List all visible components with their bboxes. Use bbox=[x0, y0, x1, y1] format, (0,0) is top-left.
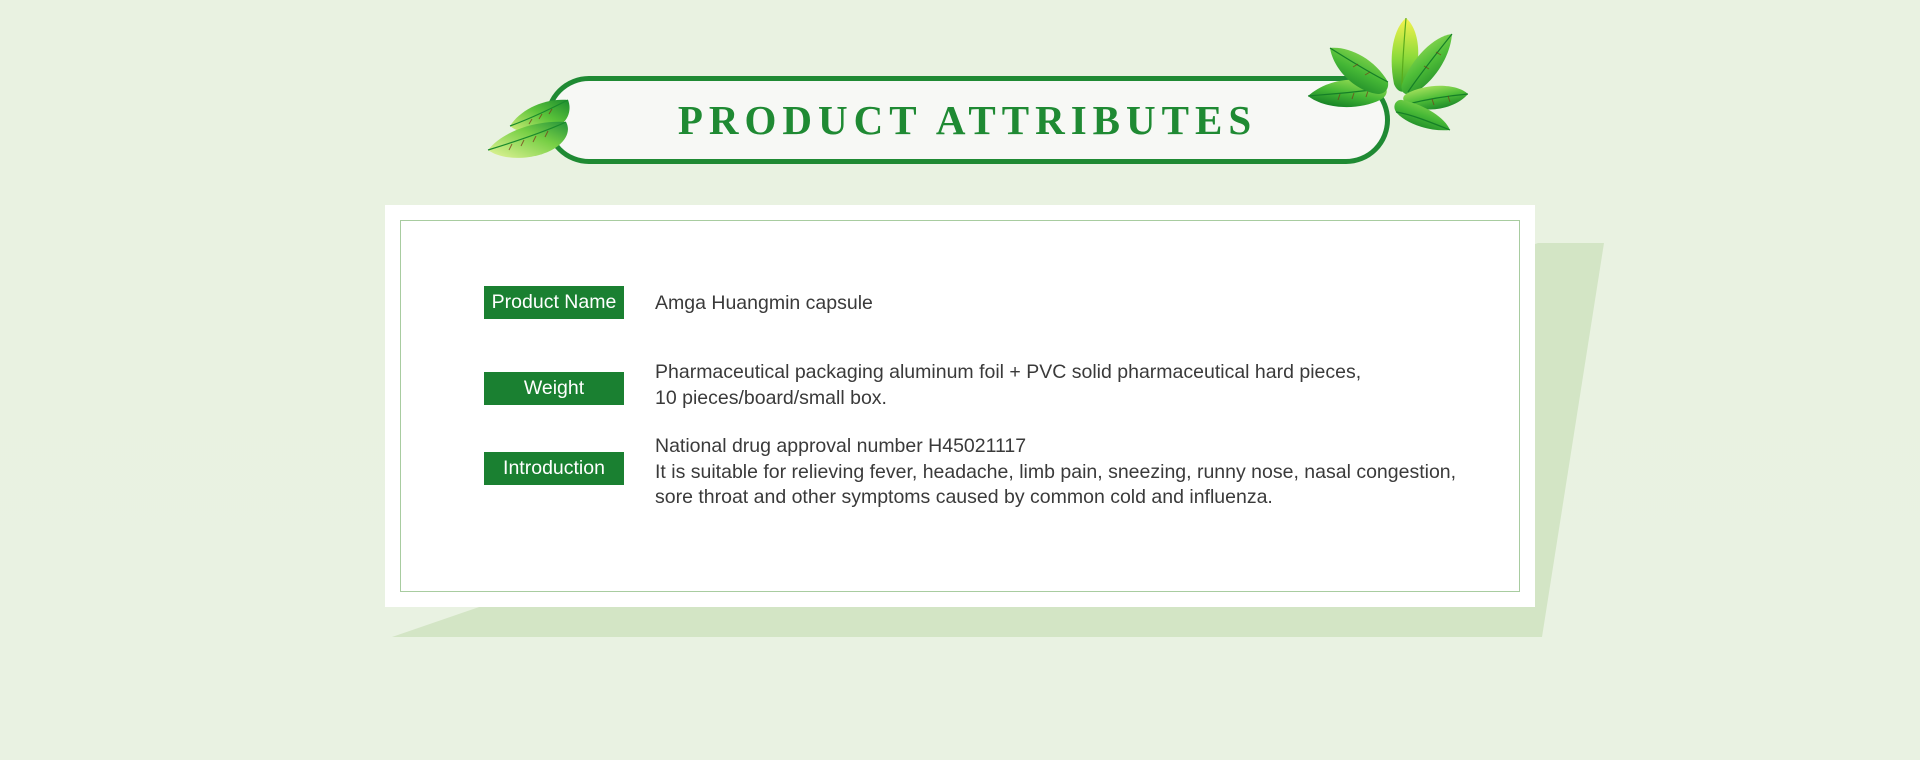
attribute-label: Weight bbox=[484, 372, 624, 405]
attribute-value: Amga Huangmin capsule bbox=[655, 286, 873, 317]
attributes-card: Product Name Amga Huangmin capsule Weigh… bbox=[385, 205, 1535, 607]
page-header: PRODUCT ATTRIBUTES bbox=[0, 0, 1920, 200]
attribute-label: Product Name bbox=[484, 286, 624, 319]
attributes-list: Product Name Amga Huangmin capsule Weigh… bbox=[401, 221, 1519, 591]
page-title: PRODUCT ATTRIBUTES bbox=[545, 76, 1390, 164]
attribute-label: Introduction bbox=[484, 452, 624, 485]
attribute-value: Pharmaceutical packaging aluminum foil +… bbox=[655, 359, 1361, 411]
attribute-row-product-name: Product Name Amga Huangmin capsule bbox=[484, 286, 873, 319]
attribute-value: National drug approval number H45021117 … bbox=[655, 433, 1456, 511]
attribute-row-introduction: Introduction National drug approval numb… bbox=[484, 433, 1456, 511]
card-inner-border: Product Name Amga Huangmin capsule Weigh… bbox=[400, 220, 1520, 592]
attribute-row-weight: Weight Pharmaceutical packaging aluminum… bbox=[484, 359, 1361, 411]
